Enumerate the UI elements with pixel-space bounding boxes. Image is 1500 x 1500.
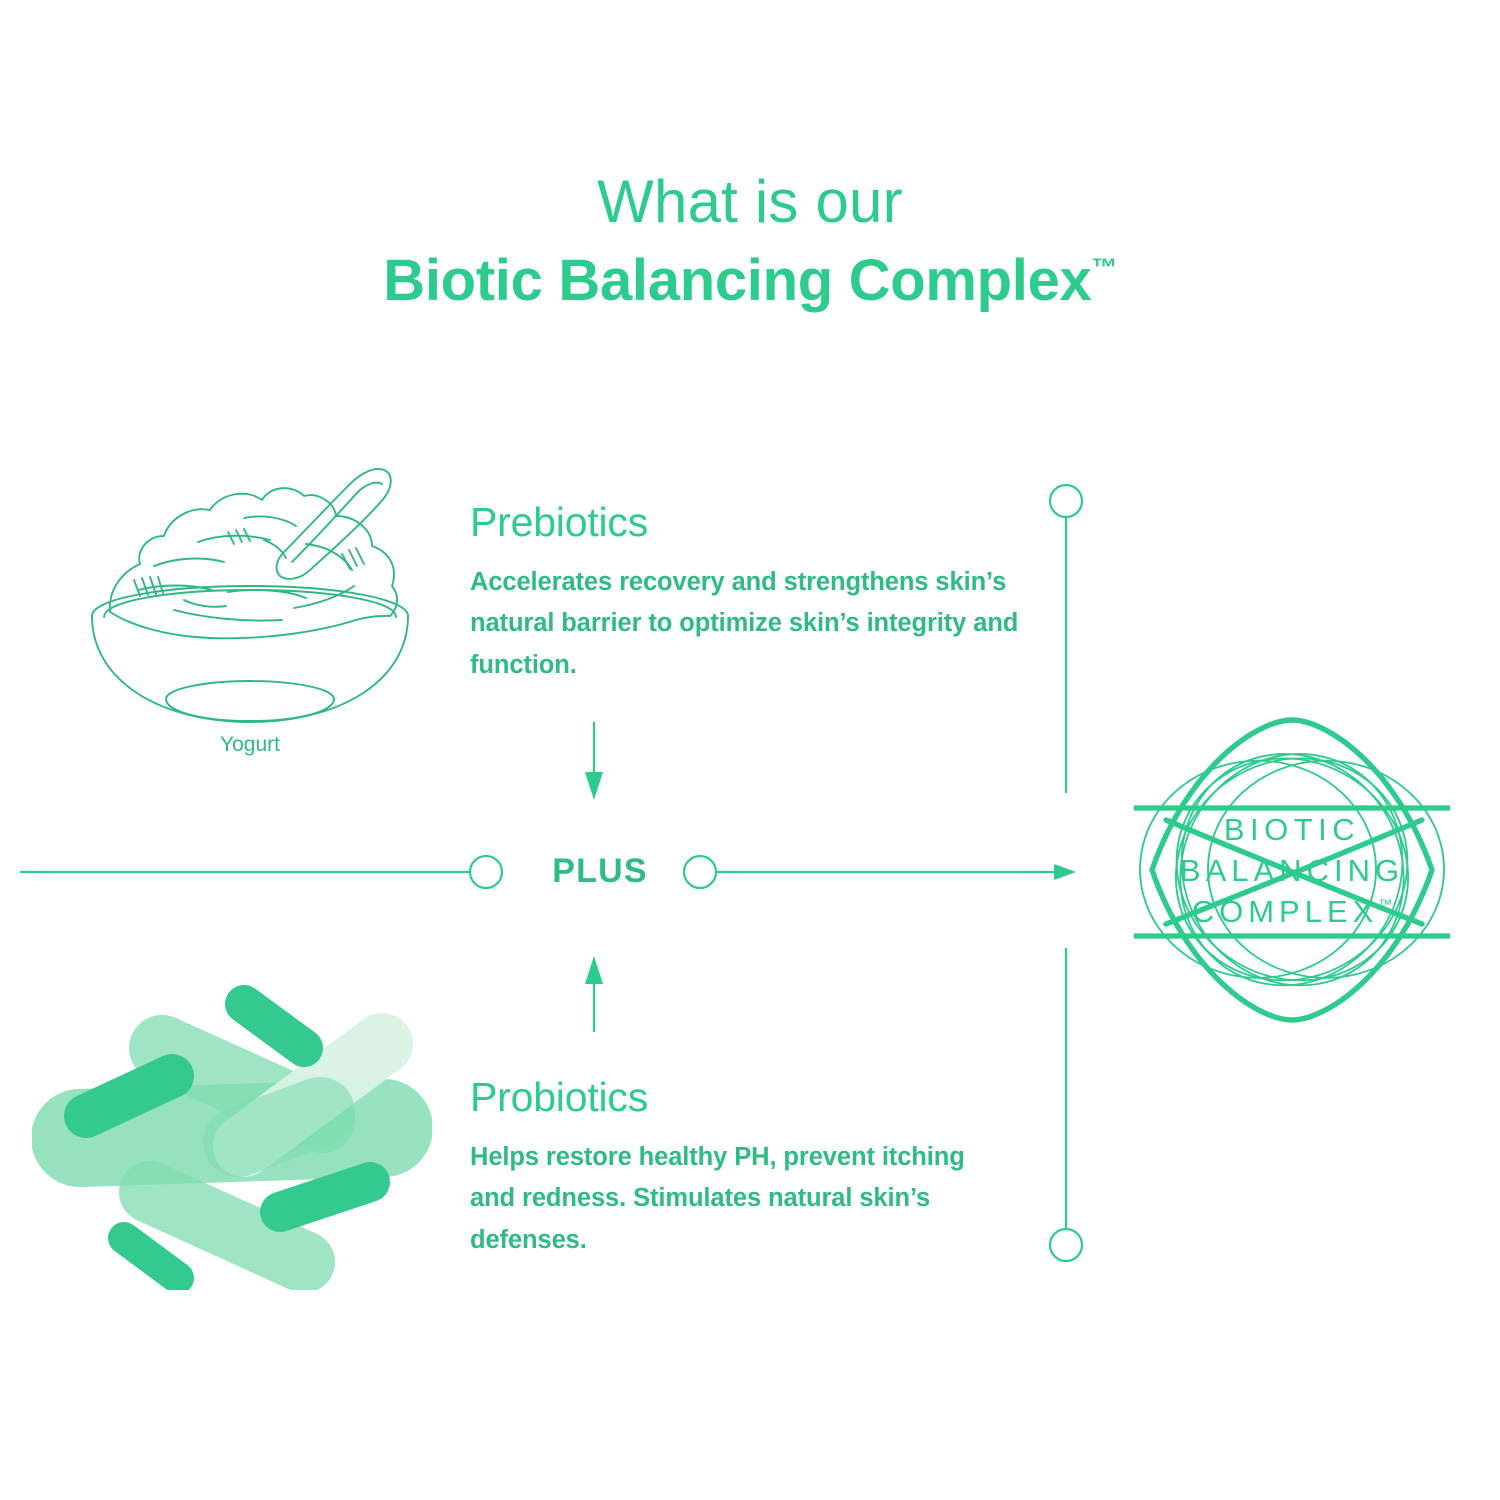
badge-complex-text: COMPLEX	[1192, 894, 1379, 929]
infographic-canvas: What is our Biotic Balancing Complex™ PL…	[0, 0, 1500, 1500]
badge-line-biotic: BIOTIC	[1122, 810, 1462, 851]
plus-label: PLUS	[500, 852, 700, 891]
prebiotics-body: Accelerates recovery and strengthens ski…	[470, 562, 1030, 686]
header-product-name-text: Biotic Balancing Complex	[383, 248, 1091, 313]
header-product-name: Biotic Balancing Complex™	[0, 245, 1500, 318]
badge-line-complex: COMPLEX™	[1122, 892, 1462, 933]
arrow-up-icon	[585, 956, 603, 984]
probiotics-body: Helps restore healthy PH, prevent itchin…	[470, 1137, 970, 1261]
connector-node-bottom	[1050, 1229, 1082, 1261]
badge-text: BIOTIC BALANCING COMPLEX™	[1122, 810, 1462, 933]
arrow-down-icon	[585, 772, 603, 800]
trademark-symbol: ™	[1092, 254, 1117, 282]
arrow-right-icon	[1054, 864, 1076, 880]
probiotics-title: Probiotics	[470, 1075, 970, 1120]
yogurt-caption: Yogurt	[100, 733, 400, 757]
page-title: What is our Biotic Balancing Complex™	[0, 168, 1500, 318]
prebiotics-title: Prebiotics	[470, 500, 1030, 545]
connector-node-left	[470, 856, 502, 888]
header-subtitle: What is our	[0, 168, 1500, 235]
bacteria-rods-illustration	[32, 970, 432, 1290]
connector-node-top	[1050, 485, 1082, 517]
badge-trademark-symbol: ™	[1378, 896, 1392, 912]
prebiotics-section: Prebiotics Accelerates recovery and stre…	[470, 500, 1030, 686]
badge-line-balancing: BALANCING	[1122, 851, 1462, 892]
probiotics-section: Probiotics Helps restore healthy PH, pre…	[470, 1075, 970, 1261]
yogurt-bowl-line-drawing	[78, 440, 422, 728]
